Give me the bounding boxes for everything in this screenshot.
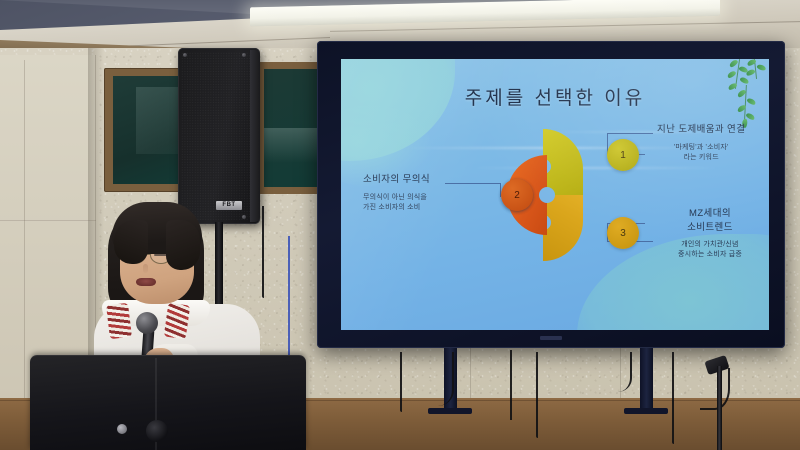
- wall-seam: [0, 220, 96, 221]
- tv-cable: [400, 352, 402, 412]
- hair-fringe-right: [166, 220, 200, 270]
- music-stand-bolt: [117, 424, 127, 434]
- callout-3-sub-line-1: 개인의 가치관/신념: [661, 240, 759, 250]
- display-foot-right: [624, 408, 668, 414]
- number-circle-3-label: 3: [620, 228, 626, 239]
- slide-screen: 주제를 선택한 이유: [341, 59, 769, 330]
- mic-stand: [717, 366, 722, 450]
- callout-3-heading-line-2: 소비트렌드: [661, 219, 759, 233]
- wall-seam: [24, 60, 25, 404]
- display-foot-left: [428, 408, 472, 414]
- side-wall: [0, 55, 96, 405]
- puzzle-diagram: 1 2 3 지난 도제배움과 연결 '마케팅'과 '소비자' 라는 키워드: [341, 59, 769, 330]
- callout-3-sub-line-2: 중시하는 소비자 급증: [661, 250, 759, 260]
- display-logo: [540, 336, 562, 340]
- callout-3: MZ세대의 소비트렌드 개인의 가치관/신념 중시하는 소비자 급증: [661, 205, 759, 260]
- scarf-right: [164, 303, 191, 340]
- music-stand-joint: [146, 420, 168, 442]
- callout-2-sub-line-2: 가진 소비자의 소비: [363, 203, 430, 213]
- tv-cable: [536, 352, 538, 438]
- callout-1-sub-line-2: 라는 키워드: [657, 153, 745, 163]
- number-circle-2-floating: [501, 179, 533, 211]
- hair-fringe-left: [114, 220, 148, 264]
- connector-2b: [445, 183, 467, 184]
- presentation-slide: 주제를 선택한 이유: [341, 59, 769, 330]
- callout-2: 소비자의 무의식 무의식이 아닌 의식을 가진 소비자의 소비: [363, 171, 430, 213]
- tv-cable: [672, 352, 674, 444]
- callout-3-heading-line-1: MZ세대의: [661, 205, 759, 219]
- microphone-head: [136, 312, 158, 334]
- scarf-left: [106, 303, 132, 339]
- puzzle-piece-2-notch: [539, 187, 555, 203]
- callout-1: 지난 도제배움과 연결 '마케팅'과 '소비자' 라는 키워드: [657, 121, 745, 163]
- connector-2: [463, 183, 501, 197]
- number-circle-1-label: 1: [620, 150, 626, 161]
- speaker-grille: [181, 52, 250, 220]
- photo-scene: FBT: [0, 0, 800, 450]
- callout-2-sub-line-1: 무의식이 아닌 의식을: [363, 193, 430, 203]
- tv-cable: [438, 352, 454, 406]
- music-stand-board: [30, 355, 306, 450]
- callout-1-heading: 지난 도제배움과 연결: [657, 121, 745, 135]
- mic-cable: [700, 368, 730, 410]
- number-circle-3: 3: [607, 217, 639, 249]
- display-leg-right: [640, 348, 653, 414]
- callout-2-heading: 소비자의 무의식: [363, 171, 430, 185]
- nose: [143, 264, 148, 273]
- mouth: [136, 278, 156, 286]
- puzzle-piece-3-body: [543, 195, 583, 261]
- number-circle-1: 1: [607, 139, 639, 171]
- tv-cable: [492, 350, 512, 420]
- callout-1-sub-line-1: '마케팅'과 '소비자': [657, 143, 745, 153]
